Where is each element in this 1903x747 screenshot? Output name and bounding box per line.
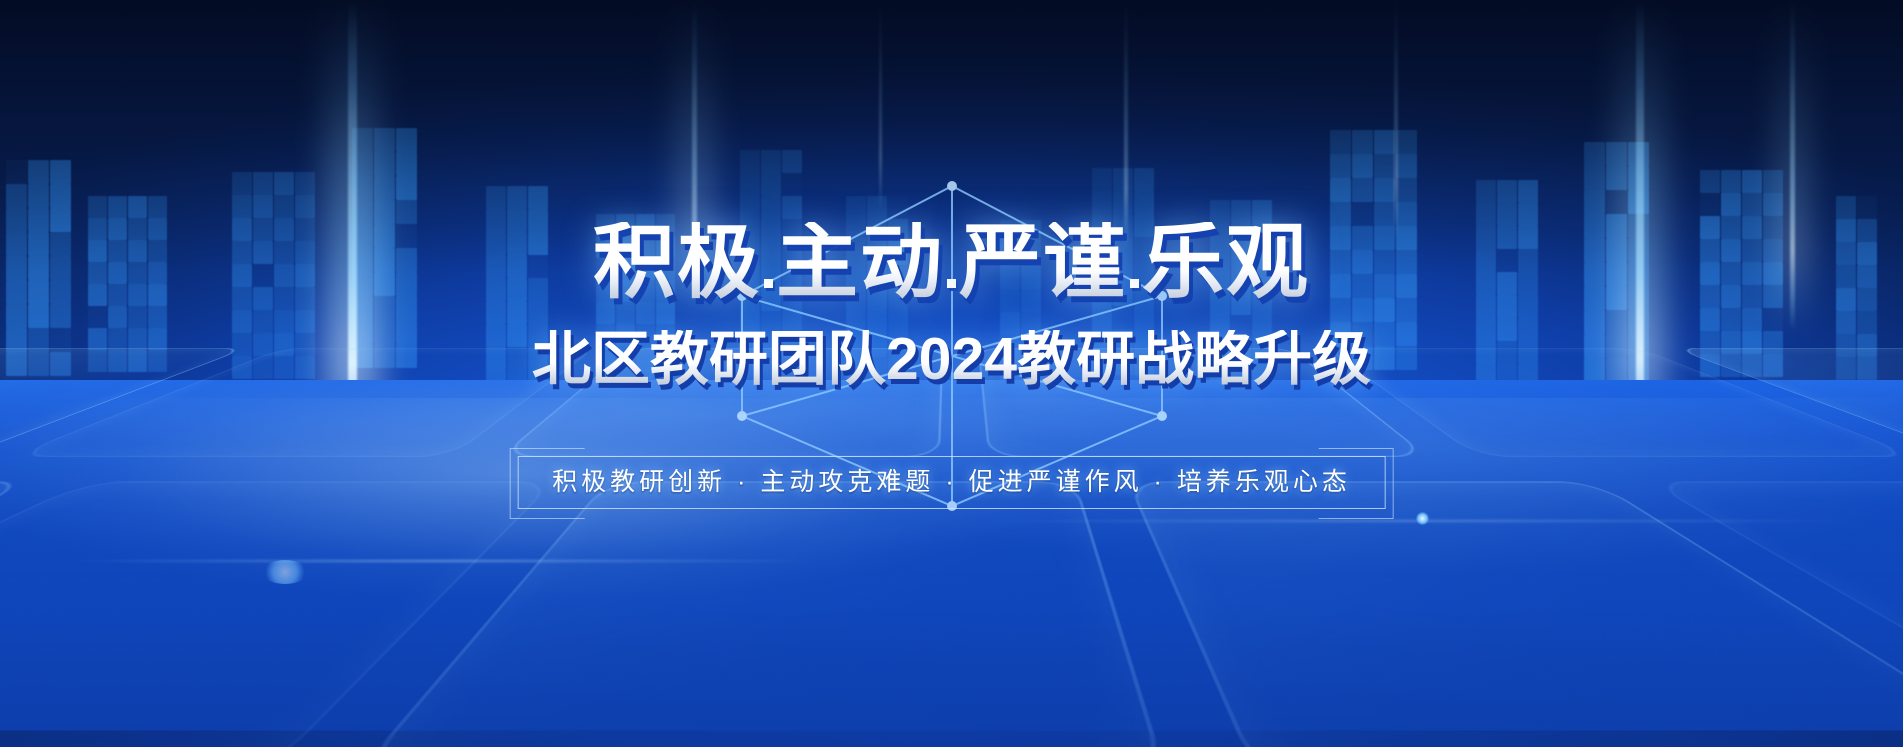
building-window [507,278,527,301]
building-window [396,272,417,296]
building-window [1092,352,1112,375]
building-window [396,200,417,224]
building-12 [1330,130,1417,370]
building-window [50,352,71,376]
building-window [1721,285,1741,308]
building-window [1606,238,1627,262]
building-window [782,311,802,334]
building-window [1374,202,1395,226]
building-window [867,242,887,265]
title-separator-3 [1127,239,1142,333]
building-window [846,242,866,265]
building-window [1210,292,1230,315]
building-window [1721,216,1741,239]
building-window [507,255,527,278]
building-window [486,209,506,232]
building-window [1584,214,1605,238]
main-title-segment-2: 主动 [776,222,944,304]
building-window [1476,318,1496,341]
building-window [1606,142,1627,166]
building-window [1518,203,1538,226]
building-window [1857,265,1877,288]
building-window [507,301,527,324]
building-window [1836,219,1856,242]
building-window [232,241,252,264]
building-window [1374,298,1395,322]
building-window [1352,322,1373,346]
building-window [1584,166,1605,190]
building-window [396,296,417,320]
main-title-segment-1: 积极 [593,222,761,304]
building-window [846,219,866,242]
building-window [1721,170,1741,193]
building-window [740,311,760,334]
building-window [761,311,781,334]
building-window [6,160,27,184]
building-window [1231,200,1251,223]
building-window [1000,289,1020,312]
building-window [1836,196,1856,219]
building-window [1092,214,1112,237]
building-window [50,328,71,352]
building-window [253,310,273,333]
building-window [88,196,107,218]
building-window [507,324,527,347]
building-window [1497,341,1517,364]
building-window [1092,306,1112,329]
building-window [1606,262,1627,286]
building-window [761,196,781,219]
building-window [636,236,655,258]
building-window [528,186,548,209]
building-window [1584,286,1605,310]
building-window [1374,178,1395,202]
building-window [528,232,548,255]
building-window [1628,262,1649,286]
building-window [232,310,252,333]
building-window [1476,341,1496,364]
building-window [274,195,294,218]
building-window [6,256,27,280]
building-window [656,280,675,302]
building-window [1113,260,1133,283]
building-window [1330,202,1351,226]
building-window [28,280,49,304]
building-window [274,333,294,356]
building-window [1396,154,1417,178]
building-window [1352,154,1373,178]
building-window [1374,346,1395,370]
building-window [1497,226,1517,249]
building-window [1584,238,1605,262]
building-window [1721,239,1741,262]
building-window [656,302,675,324]
building-window [1584,334,1605,358]
building-window [1742,216,1762,239]
building-window [1518,341,1538,364]
building-window [396,152,417,176]
light-beam-9 [1124,0,1128,250]
building-window [1606,358,1627,382]
building-window [1584,142,1605,166]
building-window [636,346,655,368]
building-window [28,184,49,208]
building-window [616,258,635,280]
building-window [232,172,252,195]
building-window [1231,292,1251,315]
building-window [232,287,252,310]
building-window [374,344,395,368]
building-window [740,265,760,288]
building-window [1210,269,1230,292]
building-window [1763,193,1783,216]
building-window [1134,191,1154,214]
building-window [28,160,49,184]
building-window [88,240,107,262]
building-window [253,333,273,356]
building-window [846,357,866,380]
building-window [1857,288,1877,311]
building-window [352,176,373,200]
building-window [1352,298,1373,322]
building-window [1721,262,1741,285]
building-window [740,242,760,265]
building-window [1476,249,1496,272]
building-window [596,258,615,280]
building-window [6,304,27,328]
building-window [761,150,781,173]
building-window [1092,260,1112,283]
building-window [867,219,887,242]
building-window [1396,226,1417,250]
building-window [232,264,252,287]
building-window [867,334,887,357]
building-window [782,288,802,311]
building-window [1021,289,1041,312]
building-window [1210,338,1230,361]
building-window [616,236,635,258]
building-window [374,320,395,344]
building-window [28,256,49,280]
building-window [1763,239,1783,262]
building-window [1330,130,1351,154]
building-window [1252,223,1272,246]
building-window [656,258,675,280]
building-window [1763,308,1783,331]
building-window [108,262,127,284]
building-window [1628,166,1649,190]
building-window [1497,203,1517,226]
building-window [1000,243,1020,266]
building-window [88,284,107,306]
building-window [1836,334,1856,357]
building-window [486,232,506,255]
building-window [486,278,506,301]
building-window [1113,352,1133,375]
building-window [6,208,27,232]
building-window [1628,214,1649,238]
building-window [888,196,908,219]
building-window [1518,318,1538,341]
building-window [1497,295,1517,318]
title-separator-2 [944,239,959,333]
building-16 [1836,196,1877,380]
building-window [1497,249,1517,272]
building-window [1352,202,1373,226]
building-window [656,324,675,346]
building-window [352,272,373,296]
building-window [253,264,273,287]
building-window [1210,246,1230,269]
building-window [1330,322,1351,346]
building-window [88,218,107,240]
building-window [1763,331,1783,354]
building-window [507,186,527,209]
building-window [636,258,655,280]
building-window [88,306,107,328]
building-window [50,304,71,328]
building-window [1497,180,1517,203]
building-window [616,324,635,346]
building-window [1252,292,1272,315]
building-window [1210,200,1230,223]
building-6 [596,214,675,390]
building-window [1396,322,1417,346]
building-window [1252,315,1272,338]
building-window [1374,250,1395,274]
building-window [656,214,675,236]
building-window [1584,262,1605,286]
building-window [1252,200,1272,223]
building-window [596,324,615,346]
building-window [374,224,395,248]
building-window [1092,329,1112,352]
building-window [1396,274,1417,298]
building-window [761,219,781,242]
building-window [50,160,71,184]
building-window [1252,338,1272,361]
building-window [486,186,506,209]
building-7 [740,150,802,357]
building-window [1352,226,1373,250]
main-title-segment-3: 严谨 [959,222,1127,304]
building-window [636,302,655,324]
building-window [148,218,167,240]
building-window [1857,334,1877,357]
building-window [782,334,802,357]
title-separator-1 [761,239,776,333]
building-window [1113,329,1133,352]
building-window [1021,335,1041,358]
building-window [1000,266,1020,289]
building-window [867,311,887,334]
building-window [50,184,71,208]
building-window [6,232,27,256]
building-window [295,287,315,310]
building-window [1742,285,1762,308]
building-window [1113,306,1133,329]
light-beam-6 [677,0,711,300]
building-window [274,356,294,379]
building-window [1330,250,1351,274]
building-window [274,287,294,310]
building-window [352,296,373,320]
building-window [740,334,760,357]
building-window [740,150,760,173]
building-window [1330,274,1351,298]
building-window [1606,214,1627,238]
building-window [108,306,127,328]
building-window [1000,220,1020,243]
building-window [28,328,49,352]
building-window [108,240,127,262]
building-window [528,347,548,370]
building-window [740,219,760,242]
building-window [295,195,315,218]
building-window [1742,354,1762,377]
building-14 [1584,142,1649,382]
building-window [1113,168,1133,191]
building-window [148,306,167,328]
building-window [128,262,147,284]
building-window [88,328,107,350]
building-window [1700,331,1720,354]
building-window [740,173,760,196]
building-window [1628,142,1649,166]
building-window [1763,170,1783,193]
building-window [232,333,252,356]
building-window [1700,170,1720,193]
building-window [1518,272,1538,295]
building-window [1742,239,1762,262]
building-window [1857,357,1877,380]
building-window [1628,334,1649,358]
building-window [616,214,635,236]
building-window [396,320,417,344]
building-window [128,350,147,372]
building-window [1134,352,1154,375]
building-window [1210,315,1230,338]
building-window [1330,178,1351,202]
building-window [1857,219,1877,242]
building-window [253,172,273,195]
building-window [374,272,395,296]
building-window [50,232,71,256]
building-window [1330,346,1351,370]
building-window [128,328,147,350]
building-window [1836,311,1856,334]
building-window [656,346,675,368]
building-window [1628,310,1649,334]
building-window [1497,272,1517,295]
building-window [1518,249,1538,272]
building-window [486,324,506,347]
building-window [888,242,908,265]
building-window [128,306,147,328]
building-window [1374,274,1395,298]
building-window [782,242,802,265]
building-window [1134,306,1154,329]
building-window [596,236,615,258]
building-window [888,357,908,380]
building-window [128,240,147,262]
building-window [274,241,294,264]
building-window [1628,190,1649,214]
building-window [1352,178,1373,202]
building-window [352,128,373,152]
building-window [1857,311,1877,334]
building-window [507,209,527,232]
building-window [352,248,373,272]
building-window [761,288,781,311]
building-window [6,352,27,376]
building-window [1584,358,1605,382]
building-window [1374,130,1395,154]
building-window [507,232,527,255]
building-window [295,333,315,356]
building-window [846,265,866,288]
building-window [28,352,49,376]
building-window [352,344,373,368]
building-window [1021,312,1041,335]
building-window [128,284,147,306]
building-window [352,152,373,176]
building-window [486,301,506,324]
building-window [1518,226,1538,249]
building-window [374,248,395,272]
building-window [1021,243,1041,266]
building-window [867,196,887,219]
building-window [1700,308,1720,331]
light-beam-8 [1777,0,1807,330]
light-beam-11 [1394,0,1398,240]
building-window [352,320,373,344]
building-window [528,324,548,347]
building-window [1763,216,1783,239]
building-window [782,265,802,288]
building-window [1113,237,1133,260]
building-window [1092,191,1112,214]
building-window [1584,310,1605,334]
building-window [108,196,127,218]
building-window [1476,180,1496,203]
building-window [782,150,802,173]
building-window [1606,310,1627,334]
building-window [1396,202,1417,226]
building-window [1021,358,1041,381]
building-window [528,301,548,324]
building-window [1113,191,1133,214]
building-window [274,172,294,195]
building-window [396,344,417,368]
building-window [1231,246,1251,269]
building-window [846,196,866,219]
building-window [1721,193,1741,216]
building-window [1113,283,1133,306]
building-window [88,350,107,372]
building-window [295,356,315,379]
building-window [352,224,373,248]
building-window [486,347,506,370]
building-window [636,324,655,346]
building-window [253,241,273,264]
building-window [1742,170,1762,193]
building-window [1021,266,1041,289]
building-window [1330,298,1351,322]
building-window [782,219,802,242]
building-window [846,288,866,311]
building-window [295,264,315,287]
